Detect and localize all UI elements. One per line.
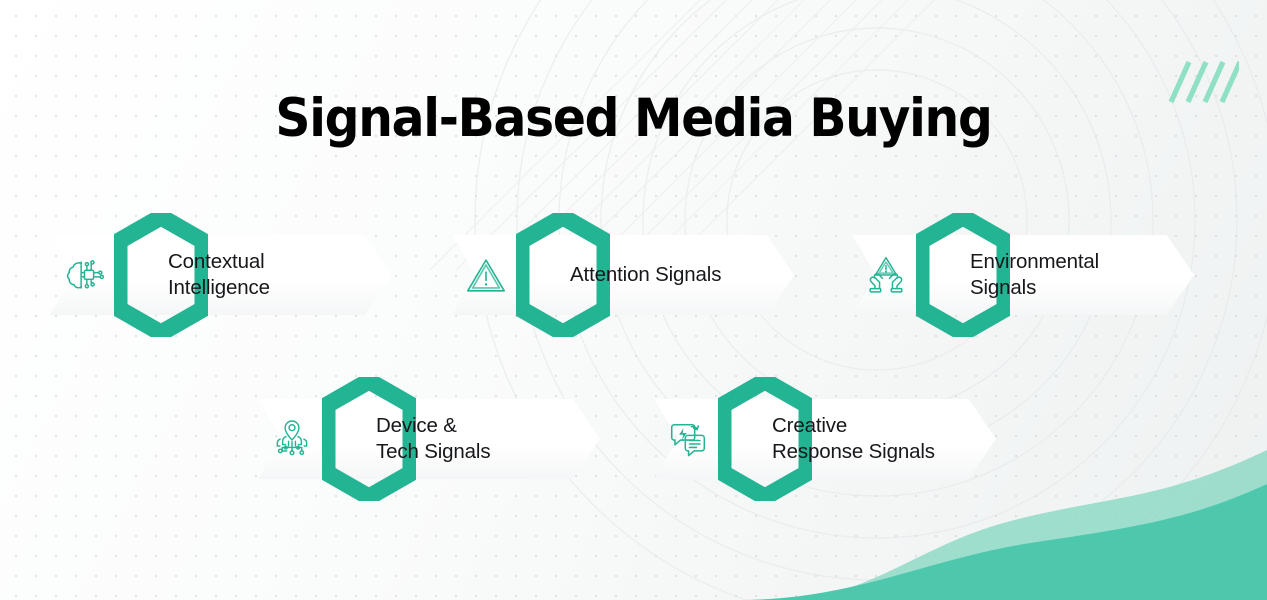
- card-label-line1: Creative: [772, 413, 982, 439]
- card-label-line1: Attention Signals: [570, 262, 780, 288]
- card-label: Creative Response Signals: [772, 399, 982, 479]
- card-label: Environmental Signals: [970, 235, 1180, 315]
- page-title-container: Signal-Based Media Buying: [0, 92, 1267, 145]
- signal-card-contextual-intelligence[interactable]: Contextual Intelligence: [50, 235, 392, 315]
- signal-card-creative-response-signals[interactable]: Creative Response Signals: [654, 399, 996, 479]
- signal-card-environmental-signals[interactable]: Environmental Signals: [852, 235, 1194, 315]
- card-label-line1: Device &: [376, 413, 586, 439]
- card-label: Attention Signals: [570, 235, 780, 315]
- location-pin-network-icon: [268, 415, 316, 463]
- hands-holding-warning-icon: [862, 251, 910, 299]
- brain-circuit-icon: [60, 251, 108, 299]
- card-label: Device & Tech Signals: [376, 399, 586, 479]
- signal-card-attention-signals[interactable]: Attention Signals: [452, 235, 794, 315]
- card-label-line2: Tech Signals: [376, 439, 586, 465]
- page-title: Signal-Based Media Buying: [51, 92, 1217, 145]
- card-label: Contextual Intelligence: [168, 235, 378, 315]
- card-label-line1: Contextual: [168, 249, 378, 275]
- card-label-line1: Environmental: [970, 249, 1180, 275]
- card-label-line2: Signals: [970, 275, 1180, 301]
- chat-bubble-lightning-icon: [664, 415, 712, 463]
- card-label-line2: Response Signals: [772, 439, 982, 465]
- card-label-line2: Intelligence: [168, 275, 378, 301]
- signal-card-device-tech-signals[interactable]: Device & Tech Signals: [258, 399, 600, 479]
- warning-triangle-icon: [462, 251, 510, 299]
